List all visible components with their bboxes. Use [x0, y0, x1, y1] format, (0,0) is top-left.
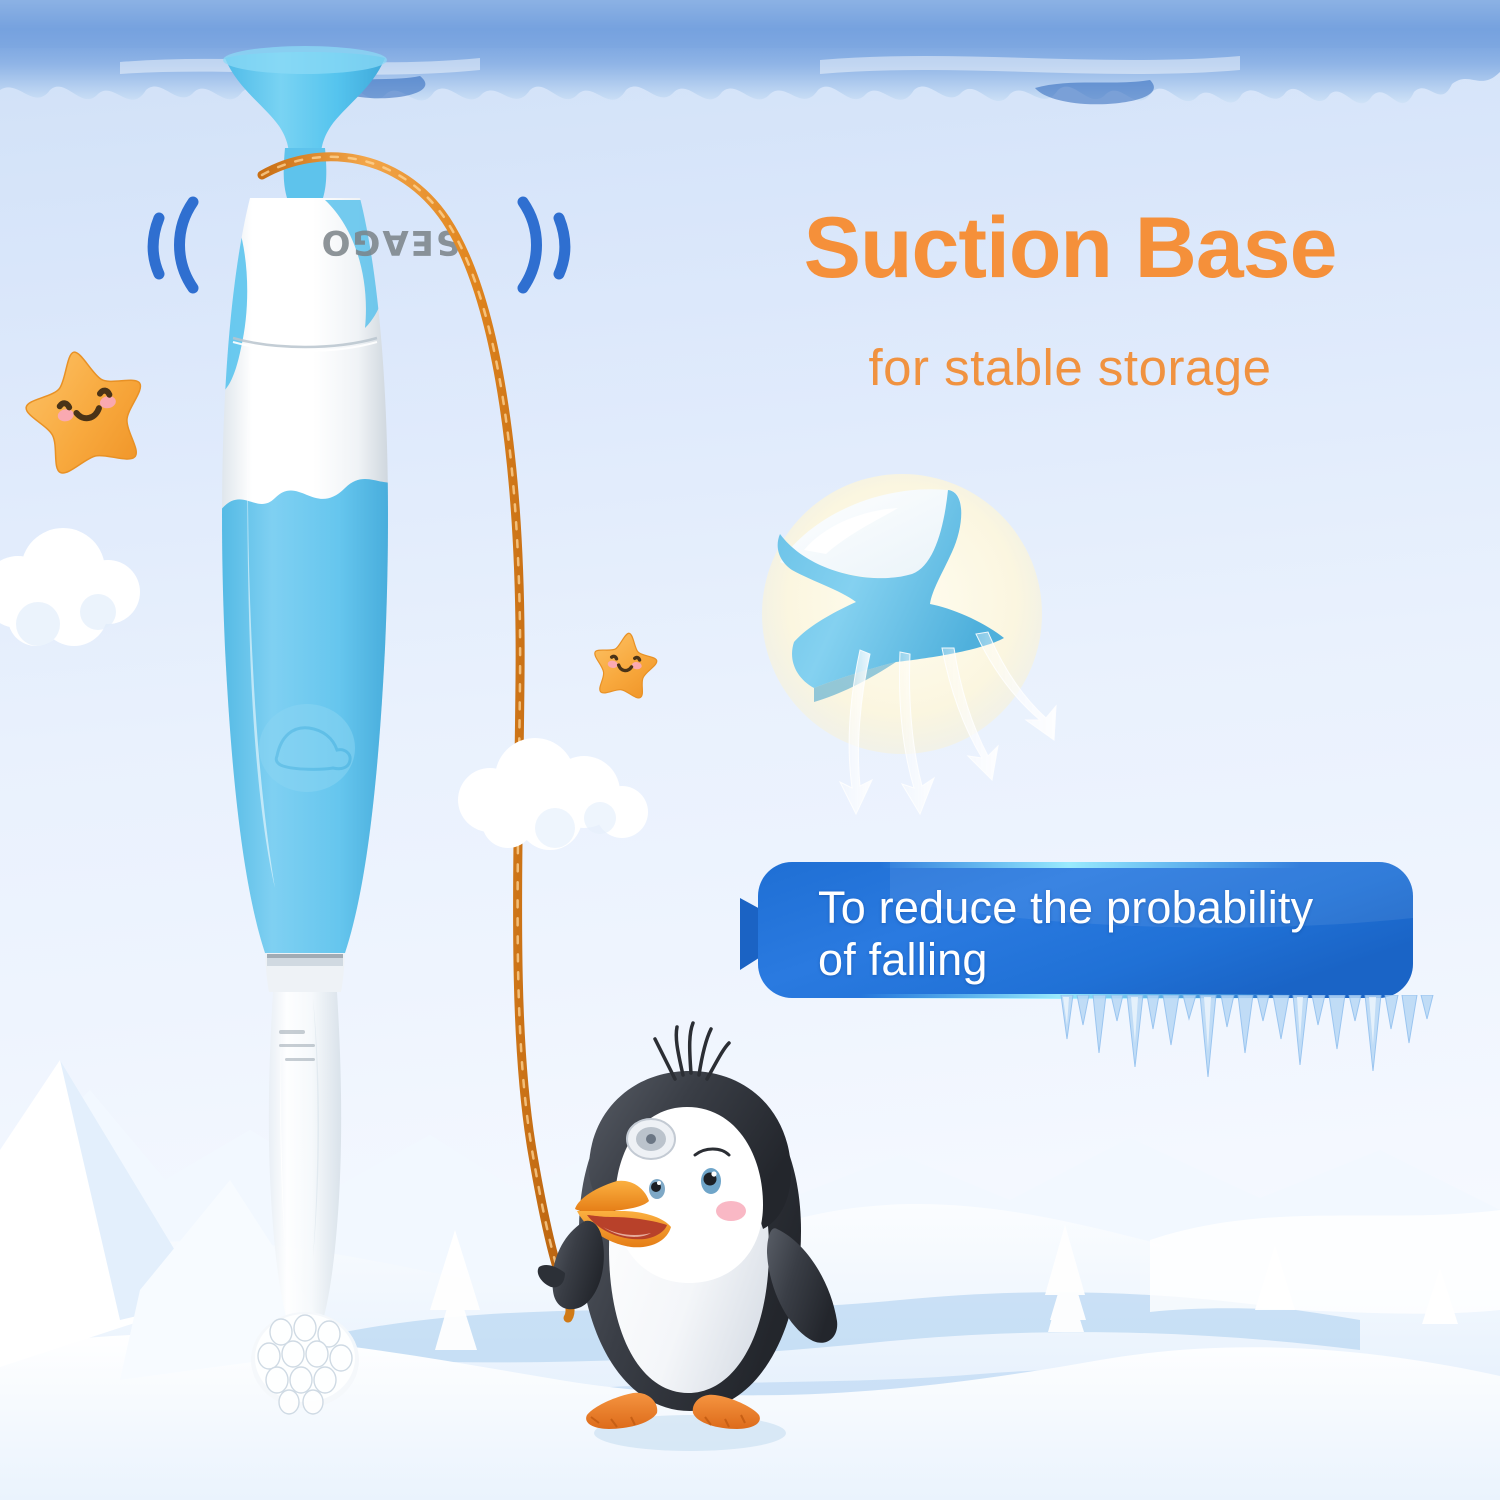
cloud-decoration-left: [0, 520, 168, 650]
cloud-decoration-middle: [450, 730, 650, 850]
callout-banner: To reduce the probability of falling: [740, 858, 1415, 1003]
banner-icicles: [1055, 995, 1455, 1105]
smiling-star-small-icon: [590, 630, 660, 695]
page-subtitle: for stable storage: [720, 340, 1420, 396]
banner-message: To reduce the probability of falling: [818, 882, 1388, 986]
product-brand-label: SEAGO: [300, 222, 480, 262]
vibration-lines-right: [505, 190, 625, 300]
banner-line-2: of falling: [818, 934, 1388, 986]
product-marketing-image: SEAGO: [0, 0, 1500, 1500]
page-title: Suction Base: [720, 205, 1420, 293]
penguin-mascot: [525, 1015, 855, 1455]
vibration-lines-left: [145, 190, 265, 300]
smiling-star-icon: [20, 345, 150, 465]
banner-line-1: To reduce the probability: [818, 882, 1388, 934]
suction-cup-closeup-diagram: [752, 462, 1082, 832]
